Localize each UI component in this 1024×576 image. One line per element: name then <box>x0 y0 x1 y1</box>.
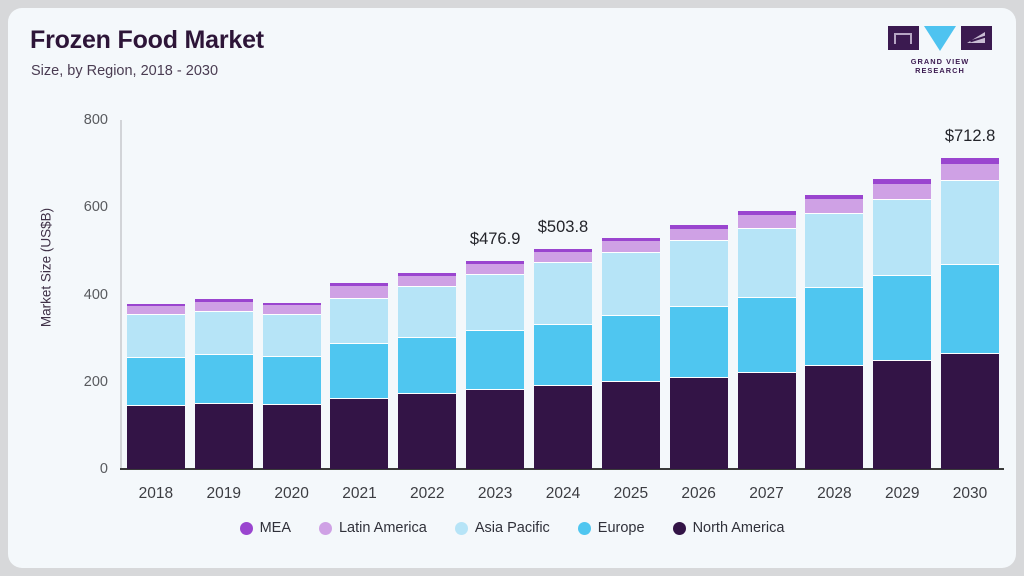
x-axis-tick-label: 2027 <box>749 485 783 503</box>
bar-segment-north-america[interactable] <box>127 405 185 469</box>
bar-segment-north-america[interactable] <box>738 372 796 469</box>
bar-segment-asia-pacific[interactable] <box>195 311 253 355</box>
legend-label: Latin America <box>339 520 427 536</box>
bar-column[interactable]: 2019 <box>190 120 258 469</box>
bar-segment-europe[interactable] <box>330 343 388 398</box>
bar-segment-europe[interactable] <box>398 337 456 393</box>
bar-segment-europe[interactable] <box>127 357 185 405</box>
bar-segment-asia-pacific[interactable] <box>534 262 592 324</box>
legend-label: Europe <box>598 520 645 536</box>
bar-segment-latin-america[interactable] <box>534 252 592 262</box>
bar-column[interactable]: 2025 <box>597 120 665 469</box>
bar-segment-latin-america[interactable] <box>330 286 388 297</box>
bar-segment-asia-pacific[interactable] <box>263 314 321 357</box>
legend-item[interactable]: MEA <box>240 520 291 536</box>
x-axis-tick-label: 2022 <box>410 485 444 503</box>
stacked-bar[interactable] <box>195 299 253 469</box>
bar-segment-asia-pacific[interactable] <box>330 298 388 344</box>
bar-segment-north-america[interactable] <box>263 404 321 469</box>
bar-segment-europe[interactable] <box>466 330 524 389</box>
bar-segment-latin-america[interactable] <box>941 164 999 181</box>
bar-segment-latin-america[interactable] <box>805 199 863 213</box>
legend-color-swatch-icon <box>319 522 332 535</box>
bar-segment-asia-pacific[interactable] <box>738 228 796 297</box>
legend-color-swatch-icon <box>578 522 591 535</box>
bar-column[interactable]: 2021 <box>326 120 394 469</box>
bar-segment-north-america[interactable] <box>941 353 999 469</box>
y-axis-ticks: 0200400600800 <box>46 8 108 568</box>
y-axis-tick-label: 600 <box>48 199 108 215</box>
bar-segment-europe[interactable] <box>670 306 728 377</box>
bar-value-label: $712.8 <box>945 127 995 146</box>
bar-segment-north-america[interactable] <box>534 385 592 469</box>
bar-segment-asia-pacific[interactable] <box>670 240 728 306</box>
bar-segment-north-america[interactable] <box>805 365 863 469</box>
x-axis-tick-label: 2021 <box>342 485 376 503</box>
stacked-bar[interactable] <box>873 179 931 469</box>
bar-segment-latin-america[interactable] <box>602 241 660 251</box>
bar-segment-europe[interactable] <box>805 287 863 366</box>
bar-segment-latin-america[interactable] <box>127 306 185 314</box>
bar-segment-north-america[interactable] <box>466 389 524 469</box>
y-axis-tick-label: 800 <box>48 112 108 128</box>
legend-item[interactable]: Latin America <box>319 520 427 536</box>
x-axis-tick-label: 2028 <box>817 485 851 503</box>
bar-column[interactable]: 2027 <box>733 120 801 469</box>
legend-label: Asia Pacific <box>475 520 550 536</box>
bar-segment-latin-america[interactable] <box>398 276 456 286</box>
legend-color-swatch-icon <box>673 522 686 535</box>
bar-segment-asia-pacific[interactable] <box>466 274 524 330</box>
chart-card: Frozen Food Market Size, by Region, 2018… <box>8 8 1016 568</box>
bar-column[interactable]: 2020 <box>258 120 326 469</box>
bar-segment-latin-america[interactable] <box>263 305 321 313</box>
x-axis-tick-label: 2020 <box>274 485 308 503</box>
bar-segment-asia-pacific[interactable] <box>873 199 931 276</box>
bar-segment-north-america[interactable] <box>873 360 931 469</box>
stacked-bar[interactable] <box>330 283 388 469</box>
y-axis-tick-label: 0 <box>48 461 108 477</box>
y-axis-tick-label: 400 <box>48 287 108 303</box>
bar-column[interactable]: $503.82024 <box>529 120 597 469</box>
stacked-bar[interactable] <box>127 304 185 469</box>
bar-group: 20182019202020212022$476.92023$503.82024… <box>122 120 1004 469</box>
bar-segment-latin-america[interactable] <box>873 184 931 199</box>
bar-column[interactable]: 2018 <box>122 120 190 469</box>
legend-color-swatch-icon <box>455 522 468 535</box>
legend-label: MEA <box>260 520 291 536</box>
stacked-bar[interactable] <box>534 249 592 469</box>
bar-segment-latin-america[interactable] <box>195 302 253 311</box>
bar-segment-europe[interactable] <box>534 324 592 385</box>
stacked-bar[interactable] <box>738 211 796 469</box>
x-axis-tick-label: 2024 <box>546 485 580 503</box>
bar-segment-europe[interactable] <box>602 315 660 380</box>
legend-item[interactable]: Europe <box>578 520 645 536</box>
stacked-bar[interactable] <box>602 238 660 469</box>
bar-segment-asia-pacific[interactable] <box>941 180 999 264</box>
bar-segment-north-america[interactable] <box>602 381 660 469</box>
bar-column[interactable]: 2028 <box>800 120 868 469</box>
bar-segment-north-america[interactable] <box>670 377 728 469</box>
stacked-bar[interactable] <box>670 225 728 469</box>
x-axis-tick-label: 2025 <box>614 485 648 503</box>
x-axis-tick-label: 2023 <box>478 485 512 503</box>
stacked-bar[interactable] <box>941 158 999 469</box>
bar-segment-europe[interactable] <box>263 356 321 404</box>
bar-segment-latin-america[interactable] <box>466 264 524 274</box>
bar-segment-north-america[interactable] <box>398 393 456 469</box>
bar-column[interactable]: $712.82030 <box>936 120 1004 469</box>
bar-value-label: $503.8 <box>538 218 588 237</box>
y-axis-tick-label: 200 <box>48 374 108 390</box>
stacked-bar[interactable] <box>398 273 456 469</box>
bar-segment-asia-pacific[interactable] <box>805 213 863 286</box>
bar-value-label: $476.9 <box>470 230 520 249</box>
legend-label: North America <box>693 520 785 536</box>
legend-item[interactable]: Asia Pacific <box>455 520 550 536</box>
bar-column[interactable]: 2026 <box>665 120 733 469</box>
x-axis-tick-label: 2029 <box>885 485 919 503</box>
bar-segment-north-america[interactable] <box>195 403 253 469</box>
bar-segment-europe[interactable] <box>873 275 931 359</box>
bar-segment-north-america[interactable] <box>330 398 388 469</box>
bar-segment-europe[interactable] <box>941 264 999 353</box>
x-axis-tick-label: 2030 <box>953 485 987 503</box>
x-axis-tick-label: 2019 <box>207 485 241 503</box>
legend-item[interactable]: North America <box>673 520 785 536</box>
bar-segment-europe[interactable] <box>195 354 253 403</box>
stacked-bar[interactable] <box>466 261 524 469</box>
stacked-bar[interactable] <box>263 303 321 469</box>
x-axis-tick-label: 2018 <box>139 485 173 503</box>
bar-column[interactable]: 2022 <box>393 120 461 469</box>
stacked-bar[interactable] <box>805 195 863 469</box>
bar-column[interactable]: 2029 <box>868 120 936 469</box>
chart-plot-area: Market Size (US$B) 0200400600800 2018201… <box>8 8 1016 568</box>
bar-segment-latin-america[interactable] <box>738 215 796 228</box>
bar-segment-europe[interactable] <box>738 297 796 372</box>
x-axis-tick-label: 2026 <box>681 485 715 503</box>
bar-segment-asia-pacific[interactable] <box>127 314 185 358</box>
legend-color-swatch-icon <box>240 522 253 535</box>
bar-segment-asia-pacific[interactable] <box>602 252 660 316</box>
chart-legend: MEALatin AmericaAsia PacificEuropeNorth … <box>8 520 1016 536</box>
bar-column[interactable]: $476.92023 <box>461 120 529 469</box>
bar-segment-latin-america[interactable] <box>670 229 728 240</box>
bar-segment-asia-pacific[interactable] <box>398 286 456 337</box>
